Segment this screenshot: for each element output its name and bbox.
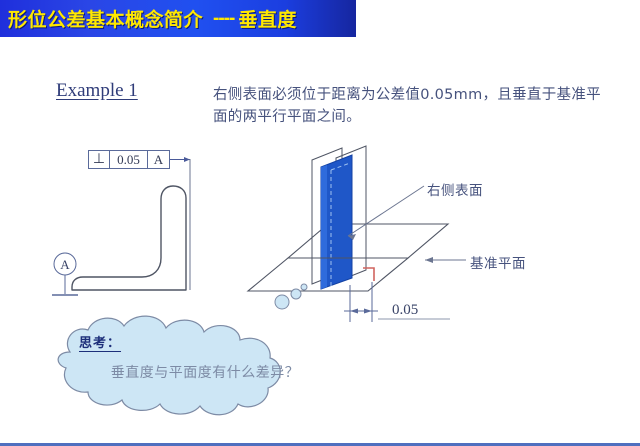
thought-cloud-question: 垂直度与平面度有什么差异？ (100, 362, 310, 384)
thought-bubble-medium (291, 289, 301, 299)
l-bracket-outline (72, 186, 186, 290)
example-label: Example 1 (56, 80, 138, 102)
datum-a-letter: A (55, 257, 75, 273)
datum-plane-surface (288, 224, 448, 258)
datum-plane-lower (248, 258, 408, 291)
fcf-leader-line (170, 157, 190, 162)
right-surface-highlight (321, 165, 327, 289)
thought-bubble-small (301, 284, 307, 290)
drawing-2d-layer (0, 0, 640, 446)
slide-title-bar: 形位公差基本概念简介 ---- 垂直度 (0, 0, 356, 37)
feature-control-frame: ⊥ 0.05 A (88, 150, 170, 169)
right-surface-plane (321, 155, 352, 289)
datum-plane-label: 基准平面 (470, 252, 526, 272)
title-separator: ---- (213, 8, 234, 30)
slide-title-subject: 垂直度 (238, 5, 297, 32)
tolerance-description: 右侧表面必须位于距离为公差值0.05mm，且垂直于基准平面的两平行平面之间。 (213, 84, 613, 128)
slide-title: 形位公差基本概念简介 (8, 5, 203, 32)
thought-cloud-heading: 思考： (79, 332, 121, 351)
right-surface-leader (348, 186, 424, 240)
thought-bubbles (275, 284, 307, 309)
right-surface-label: 右侧表面 (427, 179, 483, 199)
dimension-value-label: 0.05 (392, 302, 418, 319)
thought-bubble-large (275, 295, 289, 309)
thought-cloud-layer (0, 0, 640, 446)
datum-plane-parallelogram (290, 224, 450, 288)
perpendicularity-icon: ⊥ (89, 151, 110, 168)
datum-reference: A (148, 151, 169, 168)
diagram-3d-layer (0, 0, 640, 446)
tolerance-value: 0.05 (110, 151, 148, 168)
tolerance-plane-rear (312, 148, 342, 284)
datum-plane-leader (425, 257, 466, 263)
slide-canvas: 形位公差基本概念简介 ---- 垂直度 Example 1 右侧表面必须位于距离… (0, 0, 640, 446)
hidden-edge-top-dashed (331, 163, 350, 170)
right-angle-mark (363, 268, 374, 281)
tolerance-plane-front (336, 146, 366, 282)
